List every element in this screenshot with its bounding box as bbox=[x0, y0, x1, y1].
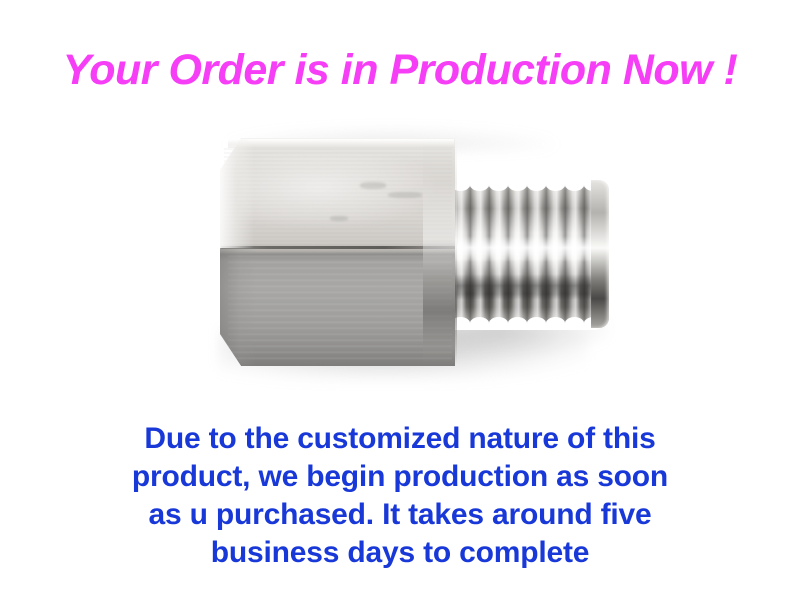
body-copy-line-2: product, we begin production as soon bbox=[0, 458, 800, 496]
hex-shoulder bbox=[423, 142, 457, 364]
thread-end-cap bbox=[591, 180, 609, 328]
hex-top-chamfer bbox=[228, 139, 454, 148]
threaded-section bbox=[432, 172, 607, 337]
body-copy-line-1: Due to the customized nature of this bbox=[0, 420, 800, 458]
promo-image: Your Order is in Production Now ! bbox=[0, 0, 800, 600]
body-copy: Due to the customized nature of this pro… bbox=[0, 420, 800, 572]
body-copy-line-3: as u purchased. It takes around five bbox=[0, 496, 800, 534]
body-copy-line-4: business days to complete bbox=[0, 534, 800, 572]
hex-machining-lines-lower bbox=[228, 252, 452, 360]
product-photo bbox=[180, 120, 640, 420]
thread-ridges bbox=[432, 178, 604, 330]
hex-facet-seam bbox=[221, 246, 455, 249]
headline-text: Your Order is in Production Now ! bbox=[0, 48, 800, 93]
